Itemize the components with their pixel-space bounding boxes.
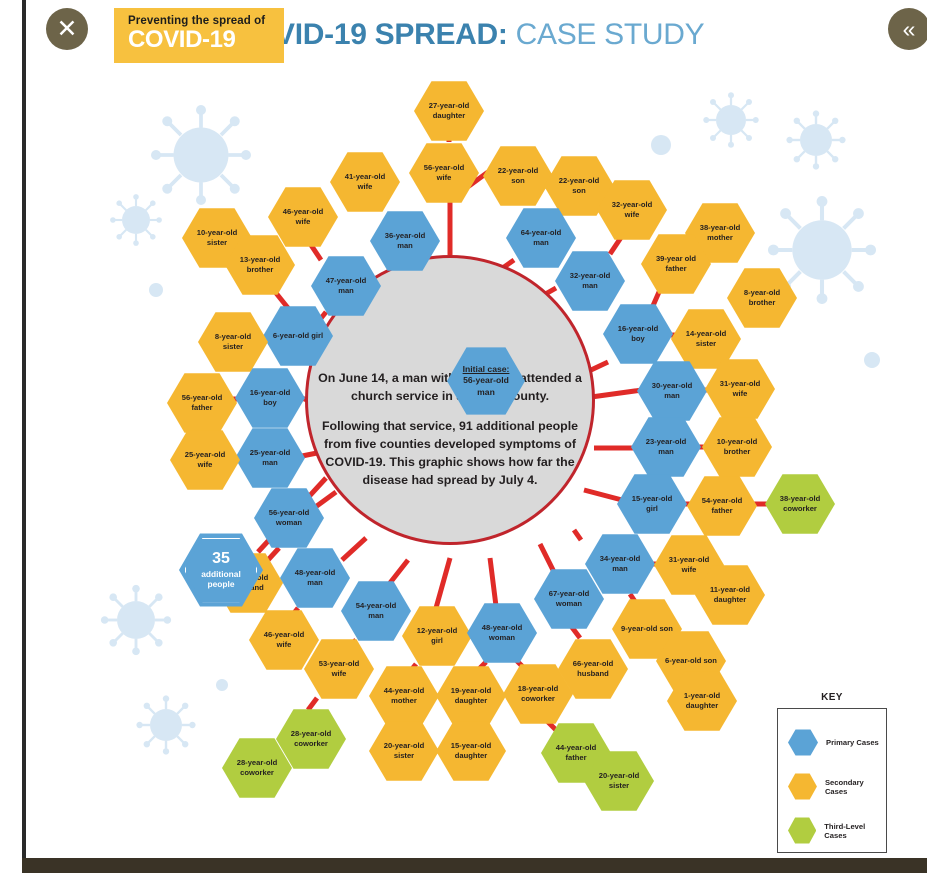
case-node-label: 22-year-old son [492,166,544,185]
case-node-label: 13-year-old brother [234,255,286,274]
key-label: Primary Cases [826,738,879,747]
key-swatch-hexagon-icon [788,817,816,844]
key-swatch-hexagon-icon [788,729,818,756]
case-node-label: 34-year-old man [594,554,646,573]
case-node-label: 8-year-old brother [736,288,788,307]
infographic-viewer: Preventing the spread of COVID-19 COVID-… [0,0,927,873]
case-node-label: 30-year-old man [646,381,698,400]
case-node-label: 10-year-old sister [191,228,243,247]
case-node-label: 67-year-old woman [543,589,595,608]
case-node-label: 47-year-old man [320,276,372,295]
key-title: KEY [777,692,887,703]
case-node-label: 8-year-old sister [207,332,259,351]
case-node-label: 6-year-old son [665,656,717,666]
additional-people-label-2: people [208,579,235,589]
case-node-label: 14-year-old sister [680,329,732,348]
case-node-label: 25-year-old wife [179,450,231,469]
case-node-label: 15-year-old daughter [445,741,497,760]
viewer-bottom-bar [22,858,927,873]
case-node-label: 12-year-old girl [411,626,463,645]
case-node-label: 39-year old father [650,254,702,273]
key-swatch-hexagon-icon [788,773,817,800]
case-node-label: 36-year-old man [379,231,431,250]
case-node-label: 20-year-old sister [378,741,430,760]
campaign-logo-badge: Preventing the spread of COVID-19 [114,8,284,63]
key-label: Third-Level Cases [824,822,886,840]
key-label: Secondary Cases [825,778,886,796]
case-node-label: 20-year-old sister [593,771,645,790]
additional-people-count: 35 [212,551,230,567]
case-node-label: 46-year-old wife [277,207,329,226]
case-node-label: 22-year-old son [553,176,605,195]
case-node-label: 53-year-old wife [313,659,365,678]
case-node-label: 41-year-old wife [339,172,391,191]
case-node-label: 38-year-old coworker [774,494,826,513]
key-row-1: Secondary Cases [788,773,886,800]
case-node-label: 54-year-old father [696,496,748,515]
case-node-label: 25-year-old man [244,448,296,467]
infographic-sheet: Preventing the spread of COVID-19 COVID-… [22,0,905,862]
case-node-label: 38-year-old mother [694,223,746,242]
case-node-label: 28-year-old coworker [231,758,283,777]
case-node-label: 6-year-old girl [273,331,323,341]
case-node-label: 44-year-old mother [378,686,430,705]
case-node-label: 56-year-old wife [418,163,470,182]
case-node-label: 19-year-old daughter [445,686,497,705]
case-description-p2: Following that service, 91 additional pe… [315,418,585,490]
case-node-label: 56-year-old woman [263,508,315,527]
case-node-label: 48-year-old man [289,568,341,587]
additional-people-label-1: additional [201,569,241,579]
case-node-label: 23-year-old man [640,437,692,456]
case-node-label: 16-year-old boy [244,388,296,407]
case-node-label: 1-year-old daughter [676,691,728,710]
page-title-light: CASE STUDY [508,18,705,51]
case-node-label: 44-year-old father [550,743,602,762]
case-description-p1: On June 14, a man with COVID-19 attended… [315,370,585,406]
case-node-label: 32-year-old man [564,271,616,290]
case-node-label: 48-year-old woman [476,623,528,642]
case-node-label: 11-year-old daughter [704,585,756,604]
case-node-label: 56-year-old father [176,393,228,412]
case-node-label: 28-year-old coworker [285,729,337,748]
case-node-label: 10-year-old brother [711,437,763,456]
case-node-label: 66-year-old husband [567,659,619,678]
case-node-label: 31-year-old wife [663,555,715,574]
initial-case-label: Initial case: [463,364,510,374]
case-node-label: 64-year-old man [515,228,567,247]
logo-title: COVID-19 [128,27,284,52]
close-icon[interactable]: ✕ [46,8,88,50]
key-row-0: Primary Cases [788,729,879,756]
case-description: On June 14, a man with COVID-19 attended… [315,370,585,490]
initial-case-sex: man [477,387,495,397]
case-node-label: 32-year-old wife [606,200,658,219]
case-node-label: 31-year-old wife [714,379,766,398]
case-node-label: 18-year-old coworker [512,684,564,703]
case-node-label: 15-year-old girl [626,494,678,513]
key-row-2: Third-Level Cases [788,817,886,844]
case-node-label: 16-year-old boy [612,324,664,343]
key-legend: Primary CasesSecondary CasesThird-Level … [777,708,887,853]
initial-case-age: 56-year-old [463,375,509,385]
case-node-label: 54-year-old man [350,601,402,620]
case-node-label: 46-year-old wife [258,630,310,649]
spread-diagram: Initial case: 56-year-old man On June 14… [26,60,905,820]
collapse-left-icon[interactable]: « [888,8,927,50]
case-node-label: 27-year-old daughter [423,101,475,120]
case-node-label: 9-year-old son [621,624,673,634]
